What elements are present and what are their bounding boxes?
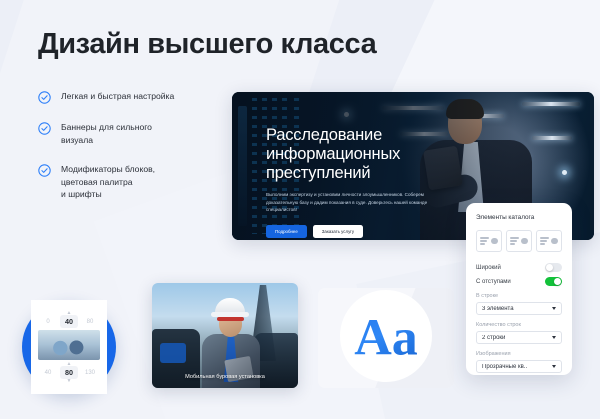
toggle-row-wide: Широкий [476, 263, 562, 272]
chevron-down-icon [552, 307, 556, 310]
banner-heading: Расследование информационных преступлени… [266, 126, 471, 183]
banner-text-block: Расследование информационных преступлени… [266, 126, 471, 238]
layout-option-1[interactable] [476, 230, 502, 252]
stepper-down-icon-bottom[interactable]: ▼ [67, 379, 72, 383]
picker-inner: ▲ 0 40 80 ▲ 40 80 130 ▼ [31, 300, 107, 394]
feature-item: Баннеры для сильного визуала [38, 121, 213, 146]
typography-card: Aa [318, 288, 454, 388]
circle-icon [551, 238, 558, 245]
list-lines-icon [510, 237, 519, 244]
design-showcase-page: Дизайн высшего класса Легкая и быстрая н… [0, 0, 600, 419]
content-root: Дизайн высшего класса Легкая и быстрая н… [0, 0, 600, 419]
picker-row-top: 0 40 80 [31, 315, 107, 328]
select-value-row-count: 2 строки [482, 335, 505, 341]
select-images[interactable]: Прозрачные кв.. [476, 360, 562, 373]
chevron-down-icon [552, 365, 556, 368]
layout-option-2[interactable] [506, 230, 532, 252]
catalog-settings-panel: Элементы каталога Широкий [466, 203, 572, 375]
circle-icon [521, 238, 528, 245]
toggle-label-wide: Широкий [476, 265, 501, 271]
picker-next-top: 80 [83, 319, 97, 325]
layout-option-3[interactable] [536, 230, 562, 252]
check-circle-icon [38, 122, 51, 135]
banner-button-group: Подробнее Заказать услугу [266, 225, 471, 238]
picker-next-bottom: 130 [83, 370, 97, 376]
layout-option-tiles [476, 230, 562, 252]
check-circle-icon [38, 164, 51, 177]
rig-photo-card: Мобильная буровая установка [152, 283, 298, 388]
toggle-row-padding: С отступами [476, 277, 562, 286]
picker-current-top[interactable]: 40 [60, 315, 78, 328]
feature-item: Модификаторы блоков, цветовая палитра и … [38, 163, 213, 201]
banner-order-service-button[interactable]: Заказать услугу [313, 225, 363, 238]
select-value-images: Прозрачные кв.. [482, 364, 527, 370]
page-title: Дизайн высшего класса [38, 28, 376, 61]
circular-size-picker-widget: ▲ 0 40 80 ▲ 40 80 130 ▼ [22, 300, 116, 394]
toggle-switch-wide[interactable] [545, 263, 562, 272]
typography-sample: Aa [318, 309, 454, 368]
field-row-count: Количество строк 2 строки [476, 322, 562, 344]
field-label-row-count: Количество строк [476, 322, 562, 328]
feature-label: Модификаторы блоков, цветовая палитра и … [61, 163, 155, 201]
picker-preview-photo [38, 330, 100, 360]
toggle-switch-padding[interactable] [545, 277, 562, 286]
feature-list: Легкая и быстрая настройка Баннеры для с… [38, 90, 213, 218]
field-label-items-per-row: В строке [476, 293, 562, 299]
field-images: Изображения Прозрачные кв.. [476, 351, 562, 373]
banner-details-button[interactable]: Подробнее [266, 225, 307, 238]
feature-label: Легкая и быстрая настройка [61, 90, 174, 103]
feature-label: Баннеры для сильного визуала [61, 121, 152, 146]
circle-icon [491, 238, 498, 245]
chevron-down-icon [552, 336, 556, 339]
panel-title: Элементы каталога [476, 214, 562, 221]
picker-prev-top: 0 [41, 319, 55, 325]
list-lines-icon [540, 237, 549, 244]
field-label-images: Изображения [476, 351, 562, 357]
banner-body-text: Выполним экспертизу и установим личности… [266, 191, 456, 214]
select-row-count[interactable]: 2 строки [476, 331, 562, 344]
rig-photo-caption: Мобильная буровая установка [152, 374, 298, 380]
picker-prev-bottom: 40 [41, 370, 55, 376]
select-items-per-row[interactable]: 3 элемента [476, 302, 562, 315]
rig-photo [152, 283, 298, 388]
feature-item: Легкая и быстрая настройка [38, 90, 213, 104]
toggle-label-padding: С отступами [476, 279, 511, 285]
select-value-items-per-row: 3 элемента [482, 306, 514, 312]
check-circle-icon [38, 91, 51, 104]
list-lines-icon [480, 237, 489, 244]
field-items-per-row: В строке 3 элемента [476, 293, 562, 315]
